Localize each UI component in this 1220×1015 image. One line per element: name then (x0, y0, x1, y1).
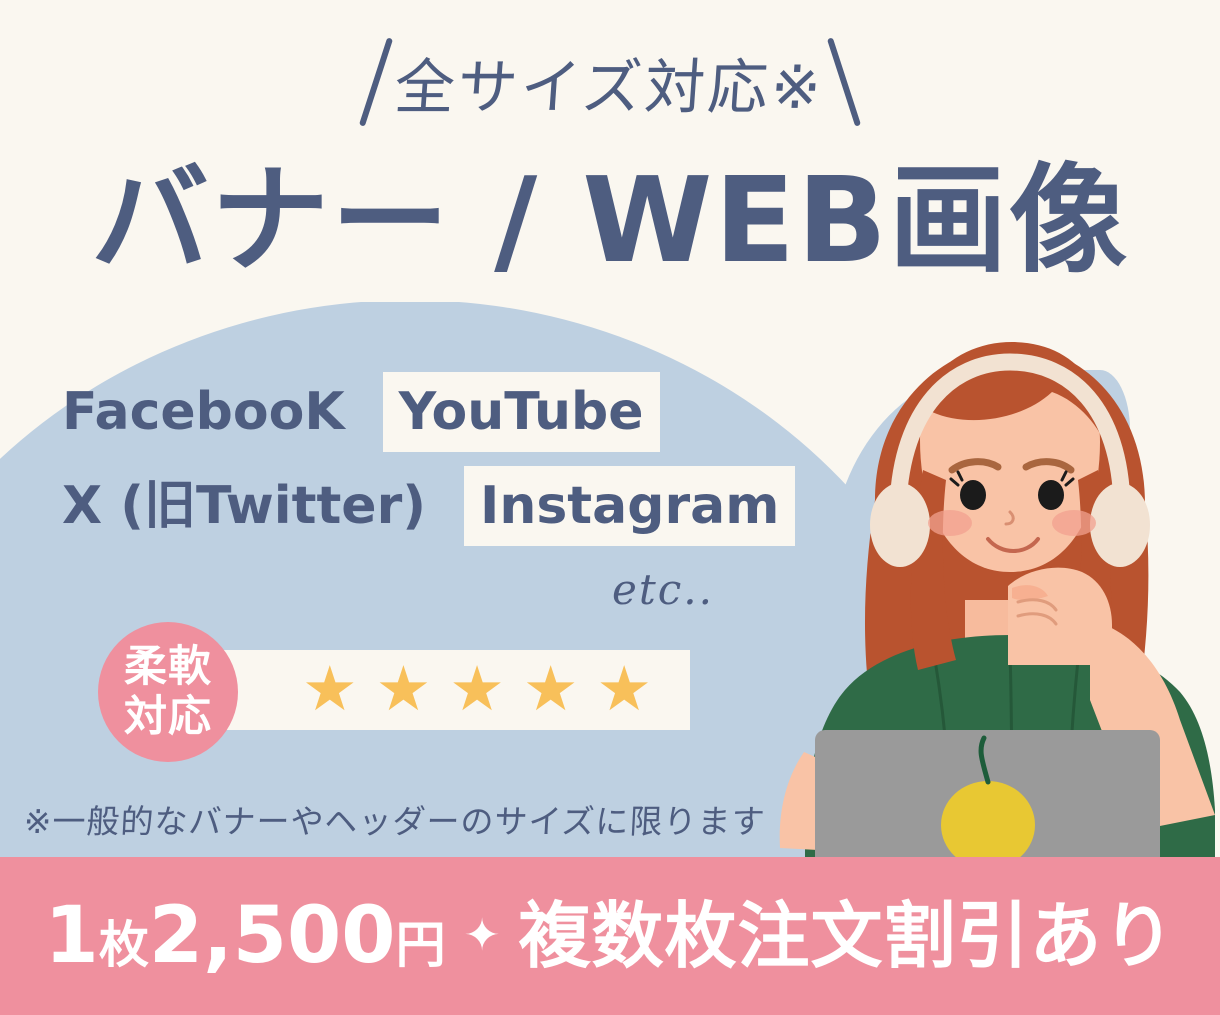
discount-text: 複数枚注文割引あり (518, 900, 1175, 972)
star-icon-3: ★ (449, 659, 505, 721)
price-quantity-unit: 枚 (99, 916, 149, 974)
badge-line-2: 対応 (124, 692, 212, 742)
price-bar: 1枚2,500円 ✦ 複数枚注文割引あり (0, 857, 1220, 1015)
star-icon-2: ★ (376, 659, 432, 721)
banner-graphic: 全サイズ対応※ バナー / WEB画像 FacebooK YouTube X (… (0, 0, 1220, 1015)
catch-copy-text: 全サイズ対応※ (392, 39, 828, 126)
illustration-woman-at-laptop (760, 320, 1220, 880)
star-icon-5: ★ (596, 659, 652, 721)
badge-line-1: 柔軟 (124, 642, 212, 692)
platform-row-1: FacebooK YouTube (46, 372, 795, 452)
etc-label: etc.. (612, 565, 714, 614)
price-quantity: 1 (45, 891, 99, 981)
star-icon-1: ★ (302, 659, 358, 721)
price-amount: 1枚2,500円 (45, 897, 446, 975)
platform-label-youtube: YouTube (383, 372, 660, 452)
platform-row-2: X (旧Twitter) Instagram (46, 466, 795, 546)
slash-left-icon (359, 37, 393, 126)
slash-right-icon (827, 37, 861, 126)
platform-list: FacebooK YouTube X (旧Twitter) Instagram (46, 372, 795, 560)
price-currency: 円 (396, 916, 446, 974)
platform-label-x-twitter: X (旧Twitter) (46, 466, 442, 546)
flexible-support-badge: 柔軟 対応 (98, 622, 238, 762)
disclaimer-note: ※一般的なバナーやヘッダーのサイズに限ります (23, 795, 767, 843)
platform-label-facebook: FacebooK (46, 372, 361, 452)
page-title: バナー / WEB画像 (0, 152, 1220, 288)
sparkle-icon: ✦ (464, 914, 501, 958)
platform-label-instagram: Instagram (464, 466, 795, 546)
price-value: 2,500 (149, 891, 396, 981)
star-icon-4: ★ (523, 659, 579, 721)
catch-copy-row: 全サイズ対応※ (0, 22, 1220, 142)
